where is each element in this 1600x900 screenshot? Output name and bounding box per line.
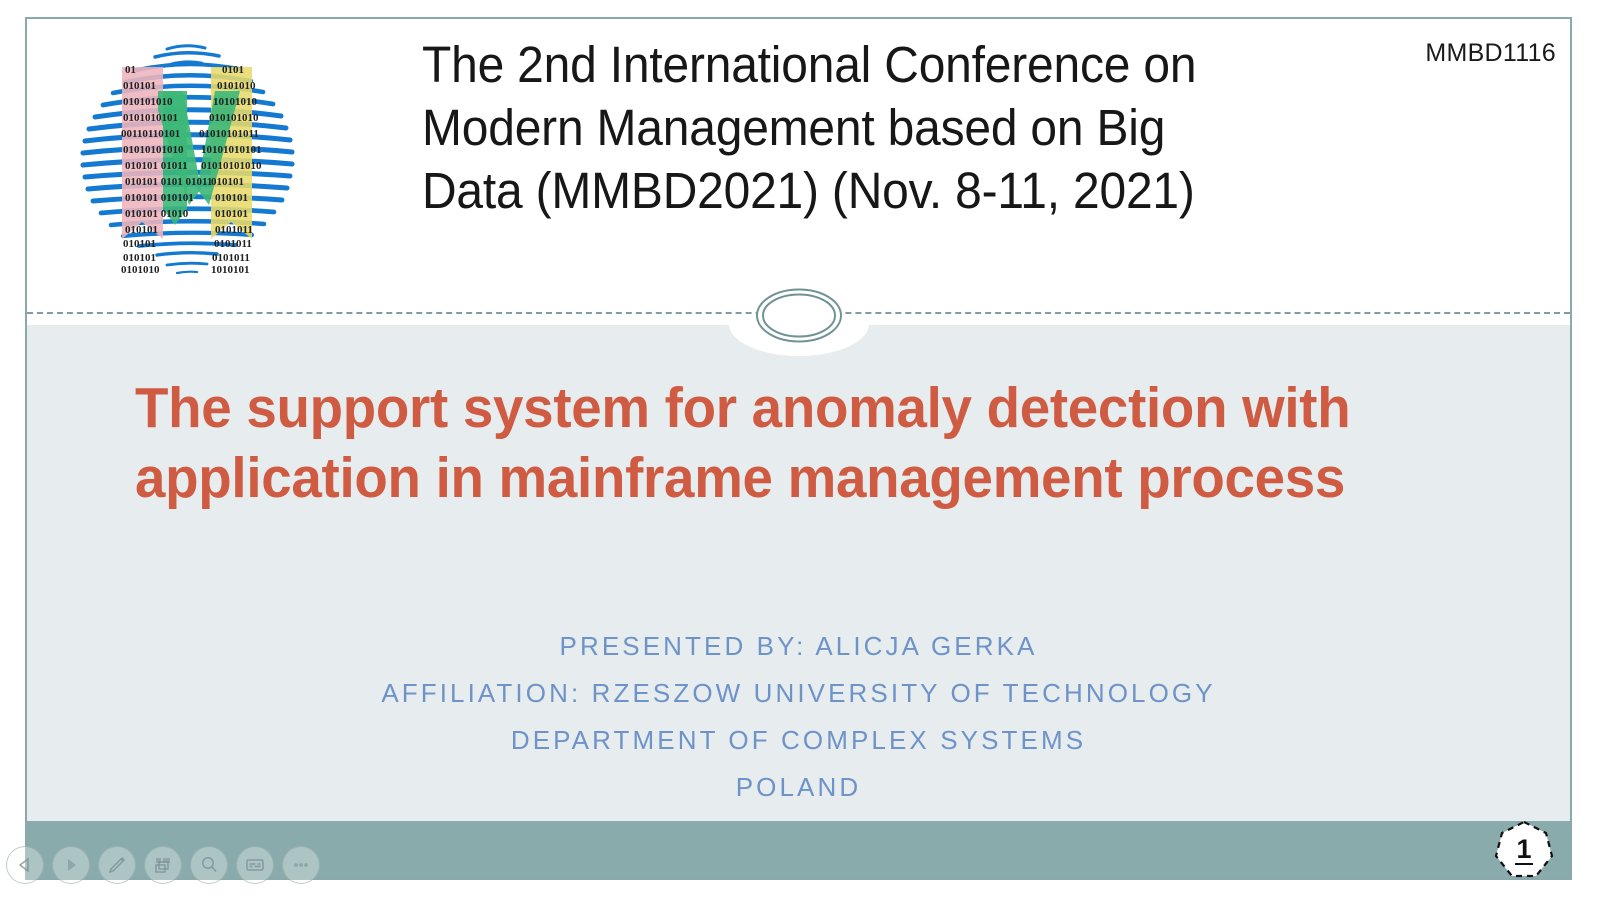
all-slides-icon	[152, 854, 174, 876]
svg-text:0101: 0101	[222, 64, 244, 76]
page-number-badge: 1	[1494, 820, 1554, 880]
subtitles-button[interactable]	[236, 846, 274, 884]
svg-text:0101011: 0101011	[215, 224, 253, 236]
svg-text:010101 01010: 010101 01010	[125, 208, 189, 220]
previous-slide-button[interactable]	[6, 846, 44, 884]
all-slides-button[interactable]	[144, 846, 182, 884]
svg-text:010101: 010101	[123, 238, 156, 250]
presenter-name-line: Presented by: Alicja Gerka	[27, 623, 1570, 670]
ellipse-ornament-icon	[754, 287, 844, 344]
svg-text:010101: 010101	[123, 80, 156, 92]
svg-text:010101: 010101	[123, 252, 156, 264]
department-line: Department of Complex Systems	[27, 717, 1570, 764]
svg-text:0101010: 0101010	[217, 80, 256, 92]
page-number-value: 1	[1515, 835, 1532, 865]
svg-text:0101011: 0101011	[212, 252, 250, 264]
slide-body-panel: The support system for anomaly detection…	[27, 325, 1570, 825]
svg-text:01010101010: 01010101010	[123, 144, 184, 156]
zoom-slide-button[interactable]	[190, 846, 228, 884]
svg-text:010101010: 010101010	[209, 112, 259, 124]
svg-text:010101010: 010101010	[123, 96, 173, 108]
more-options-button[interactable]	[282, 846, 320, 884]
svg-text:010101 010101: 010101 010101	[125, 192, 194, 204]
svg-text:0101010: 0101010	[121, 264, 160, 276]
slide-header: 010101 0101010101010 01010101010101010 0…	[27, 19, 1570, 312]
svg-text:1010101: 1010101	[211, 264, 250, 276]
screen: 010101 0101010101010 01010101010101010 0…	[0, 0, 1600, 900]
svg-text:010101 0101 01011: 010101 0101 01011	[125, 176, 212, 188]
svg-text:010101: 010101	[211, 176, 244, 188]
svg-text:0101011: 0101011	[214, 238, 252, 250]
paper-code: MMBD1116	[1425, 39, 1556, 68]
svg-text:01: 01	[125, 64, 136, 76]
conference-title: The 2nd International Conference on Mode…	[422, 33, 1277, 222]
page-title: The support system for anomaly detection…	[135, 373, 1412, 513]
svg-text:0101010101: 0101010101	[123, 112, 178, 124]
next-slide-button[interactable]	[52, 846, 90, 884]
previous-slide-icon	[15, 855, 35, 875]
zoom-icon	[198, 854, 220, 876]
subtitles-icon	[244, 854, 266, 876]
mmbd-globe-logo: 010101 0101010101010 01010101010101010 0…	[59, 29, 314, 287]
next-slide-icon	[61, 855, 81, 875]
svg-text:01010101010: 01010101010	[201, 160, 262, 172]
svg-text:00110110101: 00110110101	[121, 128, 180, 140]
svg-text:010101: 010101	[125, 224, 158, 236]
svg-text:10101010: 10101010	[213, 96, 258, 108]
more-options-icon	[290, 854, 312, 876]
svg-text:01010101011: 01010101011	[199, 128, 259, 140]
pen-tools-button[interactable]	[98, 846, 136, 884]
country-line: Poland	[27, 764, 1570, 811]
pen-icon	[106, 854, 128, 876]
slideshow-toolbar[interactable]	[6, 846, 320, 884]
presenter-block: Presented by: Alicja Gerka Affiliation: …	[27, 623, 1570, 811]
affiliation-line: Affiliation: Rzeszow University of Techn…	[27, 670, 1570, 717]
svg-text:010101 01011: 010101 01011	[125, 160, 188, 172]
svg-text:010101: 010101	[215, 192, 248, 204]
svg-text:10101010101: 10101010101	[201, 144, 262, 156]
svg-text:010101: 010101	[215, 208, 248, 220]
presentation-slide: 010101 0101010101010 01010101010101010 0…	[25, 17, 1572, 880]
